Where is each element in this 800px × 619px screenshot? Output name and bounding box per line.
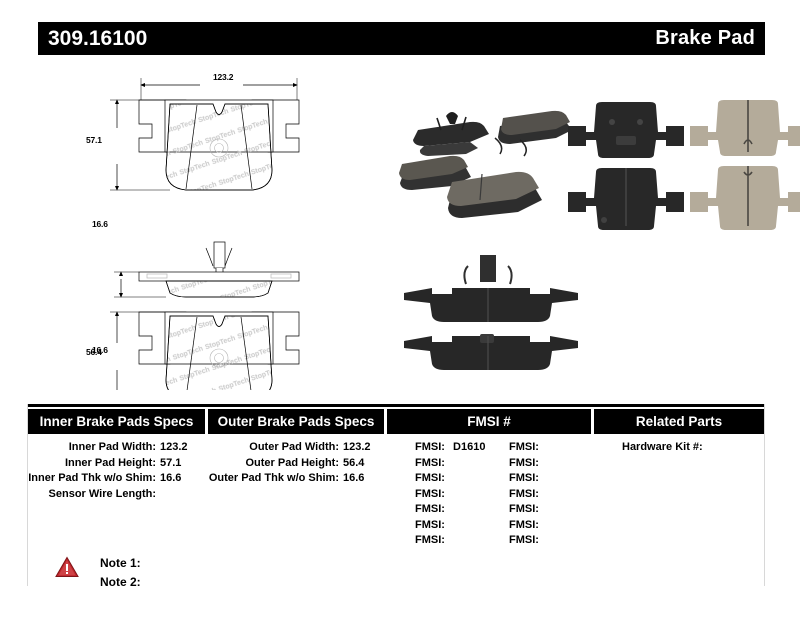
- spec-row: Sensor Wire Length:: [28, 487, 205, 503]
- spec-row: Outer Pad Height: 56.4: [208, 456, 384, 472]
- fmsi-row: FMSI:: [509, 533, 544, 549]
- product-photo-edge: [404, 255, 578, 370]
- drawing-area: StopTech: [0, 60, 800, 390]
- product-photo-angled: [399, 111, 572, 218]
- table-header-row: Inner Brake Pads Specs Outer Brake Pads …: [28, 409, 764, 434]
- product-type-label: Brake Pad: [655, 27, 755, 50]
- fmsi-value: D1610: [453, 441, 485, 453]
- dim-inner-width: 123.2: [213, 72, 233, 82]
- fmsi-row: FMSI:: [509, 502, 544, 518]
- dim-outer-thickness: 16.6: [92, 345, 108, 355]
- note-lines: Note 1: Note 2:: [100, 554, 141, 592]
- spec-value: 56.4: [343, 456, 364, 472]
- dim-inner-height: 57.1: [86, 135, 102, 145]
- fmsi-row: FMSI:: [415, 487, 485, 503]
- header-outer-specs: Outer Brake Pads Specs: [208, 409, 384, 434]
- spec-label: Sensor Wire Length:: [28, 487, 156, 503]
- fmsi-row: FMSI:: [509, 487, 544, 503]
- fmsi-row: FMSI:: [509, 471, 544, 487]
- spec-row: Inner Pad Thk w/o Shim: 16.6: [28, 471, 205, 487]
- fmsi-label: FMSI:: [509, 503, 539, 515]
- technical-drawings-svg: StopTech: [0, 60, 800, 390]
- spec-row: Inner Pad Width: 123.2: [28, 440, 205, 456]
- fmsi-row: FMSI:: [415, 533, 485, 549]
- fmsi-label: FMSI:: [415, 457, 445, 469]
- dim-inner-thickness: 16.6: [92, 219, 108, 229]
- fmsi-label: FMSI:: [509, 441, 539, 453]
- spec-value: 16.6: [160, 471, 181, 487]
- header-fmsi: FMSI #: [387, 409, 591, 434]
- notes-section: Note 1: Note 2:: [55, 554, 141, 592]
- fmsi-column-left: FMSI: D1610 FMSI: FMSI: FMSI: FMSI: FMSI…: [415, 440, 485, 549]
- spec-value: 123.2: [343, 440, 371, 456]
- related-parts-list: Hardware Kit #:: [594, 440, 764, 456]
- spec-label: Outer Pad Height:: [208, 456, 339, 472]
- spec-label: Outer Pad Thk w/o Shim:: [208, 471, 339, 487]
- spec-value: 123.2: [160, 440, 188, 456]
- fmsi-row: FMSI:: [415, 456, 485, 472]
- spec-label: Outer Pad Width:: [208, 440, 339, 456]
- related-part-row: Hardware Kit #:: [622, 440, 764, 456]
- product-photo-grid: [568, 100, 800, 230]
- spec-value: 16.6: [343, 471, 364, 487]
- fmsi-label: FMSI:: [415, 472, 445, 484]
- note-2: Note 2:: [100, 573, 141, 592]
- fmsi-label: FMSI:: [509, 488, 539, 500]
- note-1: Note 1:: [100, 554, 141, 573]
- fmsi-label: FMSI:: [509, 519, 539, 531]
- inner-specs-list: Inner Pad Width: 123.2 Inner Pad Height:…: [28, 440, 205, 502]
- header-related-parts: Related Parts: [594, 409, 764, 434]
- spec-row: Inner Pad Height: 57.1: [28, 456, 205, 472]
- spec-label: Inner Pad Thk w/o Shim:: [28, 471, 156, 487]
- fmsi-label: FMSI:: [415, 534, 445, 546]
- header-inner-specs: Inner Brake Pads Specs: [28, 409, 205, 434]
- spec-value: 57.1: [160, 456, 181, 472]
- spec-row: Outer Pad Thk w/o Shim: 16.6: [208, 471, 384, 487]
- fmsi-label: FMSI:: [415, 503, 445, 515]
- fmsi-row: FMSI: D1610: [415, 440, 485, 456]
- warning-triangle-icon: [55, 556, 79, 578]
- related-part-label: Hardware Kit #:: [622, 441, 703, 453]
- title-bar: 309.16100 Brake Pad: [38, 22, 765, 55]
- fmsi-row: FMSI:: [509, 440, 544, 456]
- fmsi-row: FMSI:: [509, 456, 544, 472]
- part-number: 309.16100: [48, 27, 147, 51]
- fmsi-label: FMSI:: [415, 488, 445, 500]
- fmsi-row: FMSI:: [415, 502, 485, 518]
- fmsi-row: FMSI:: [509, 518, 544, 534]
- fmsi-label: FMSI:: [509, 457, 539, 469]
- fmsi-column-right: FMSI: FMSI: FMSI: FMSI: FMSI: FMSI:: [509, 440, 544, 549]
- fmsi-label: FMSI:: [509, 472, 539, 484]
- fmsi-label: FMSI:: [415, 441, 445, 453]
- fmsi-label: FMSI:: [415, 519, 445, 531]
- fmsi-row: FMSI:: [415, 471, 485, 487]
- spec-row: Outer Pad Width: 123.2: [208, 440, 384, 456]
- fmsi-row: FMSI:: [415, 518, 485, 534]
- outer-specs-list: Outer Pad Width: 123.2 Outer Pad Height:…: [208, 440, 384, 487]
- spec-label: Inner Pad Height:: [28, 456, 156, 472]
- spec-label: Inner Pad Width:: [28, 440, 156, 456]
- fmsi-label: FMSI:: [509, 534, 539, 546]
